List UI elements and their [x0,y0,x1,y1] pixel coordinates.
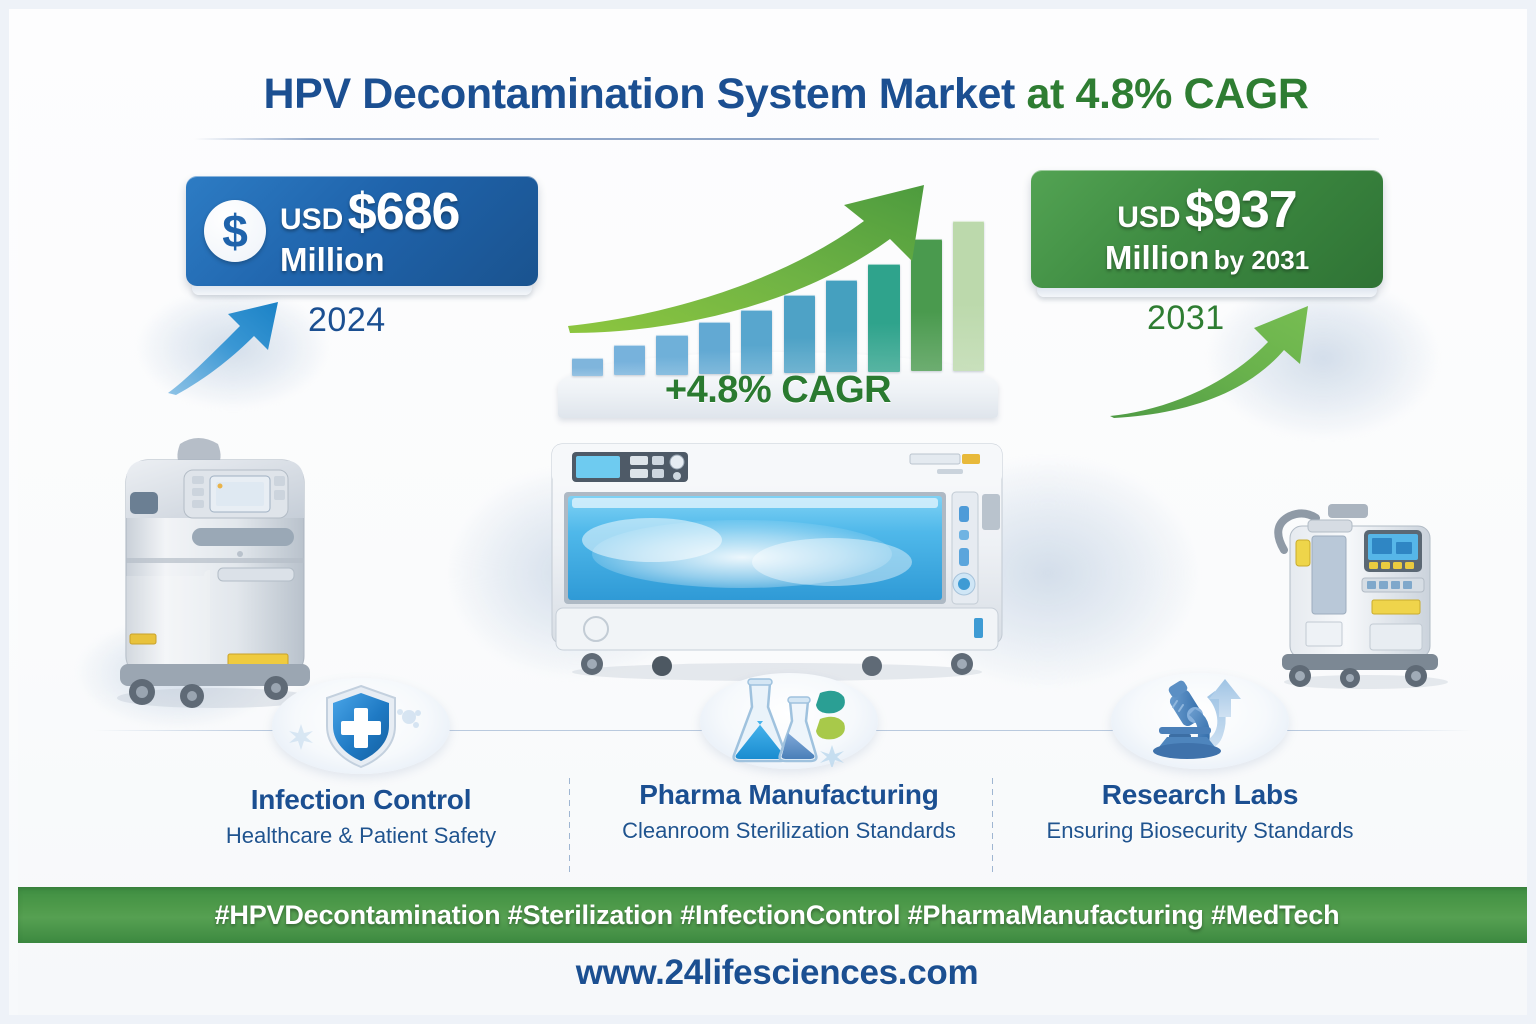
lab-flasks-icon [726,675,856,767]
shield-cross-icon [315,680,407,772]
market-value-badge-2024: $ USD $686 Million [186,176,538,286]
hashtag-bar: #HPVDecontamination #Sterilization #Infe… [18,887,1536,943]
badge-currency: USD [280,203,343,236]
feature-subtitle-1: Healthcare & Patient Safety [146,823,576,849]
badge-value: $686 [348,183,460,241]
badge-unit: Million [280,241,384,278]
cagr-chart: +4.8% CAGR [558,183,998,418]
market-value-badge-2031: USD $937 Million by 2031 [1031,170,1383,288]
badge-unit-green: Million [1105,239,1209,276]
year-label-start: 2024 [308,301,386,340]
feature-icon-wrap-2 [700,673,878,769]
title-main: HPV Decontamination System Market [264,70,1015,118]
blue-growth-arrow-icon [166,280,311,395]
badge-value-line: USD $686 [280,186,459,238]
badge-currency-green: USD [1117,201,1180,234]
title-cagr: 4.8% CAGR [1076,70,1309,118]
infographic-inner: HPV Decontamination System Market at 4.8… [18,18,1536,1024]
mobile-hpv-generator [100,426,330,711]
feature-icon-wrap-1 [272,678,450,774]
footer-website[interactable]: www.24lifesciences.com [9,953,1536,993]
feature-title-1: Infection Control [146,784,576,816]
dollar-glyph: $ [222,208,248,254]
cagr-label: +4.8% CAGR [558,369,998,412]
feature-pharma-manufacturing[interactable]: Pharma Manufacturing Cleanroom Steriliza… [574,673,1004,844]
badge-value-line-green: USD $937 [1057,184,1357,236]
hashtag-text: #HPVDecontamination #Sterilization #Infe… [215,900,1340,931]
badge-text-block: USD $686 Million [280,186,459,276]
microscope-icon [1139,675,1267,767]
feature-title-3: Research Labs [985,779,1415,811]
germ-icon-right [396,704,422,730]
feature-subtitle-2: Cleanroom Sterilization Standards [574,818,1004,844]
page-title: HPV Decontamination System Market at 4.8… [18,70,1536,119]
feature-title-2: Pharma Manufacturing [574,779,1004,811]
chart-growth-arrow-icon [564,183,998,373]
feature-icon-wrap-3 [1111,673,1289,769]
green-growth-arrow-icon [1108,298,1328,418]
hpv-decontamination-chamber [542,436,1012,684]
compact-hpv-unit [1266,500,1466,690]
badge-text-block-green: USD $937 Million by 2031 [1057,184,1357,274]
feature-infection-control[interactable]: Infection Control Healthcare & Patient S… [146,678,576,849]
germ-icon-left [286,722,316,752]
badge-unit-line: Million [280,243,459,276]
badge-unit-line-green: Million by 2031 [1057,241,1357,274]
title-divider [194,138,1379,140]
infographic-canvas: HPV Decontamination System Market at 4.8… [0,0,1536,1024]
badge-value-green: $937 [1185,181,1297,239]
feature-research-labs[interactable]: Research Labs Ensuring Biosecurity Stand… [985,673,1415,844]
dollar-circle-icon: $ [204,200,266,262]
feature-subtitle-3: Ensuring Biosecurity Standards [985,818,1415,844]
title-at: at [1027,70,1064,118]
badge-suffix-green: by 2031 [1214,245,1309,275]
